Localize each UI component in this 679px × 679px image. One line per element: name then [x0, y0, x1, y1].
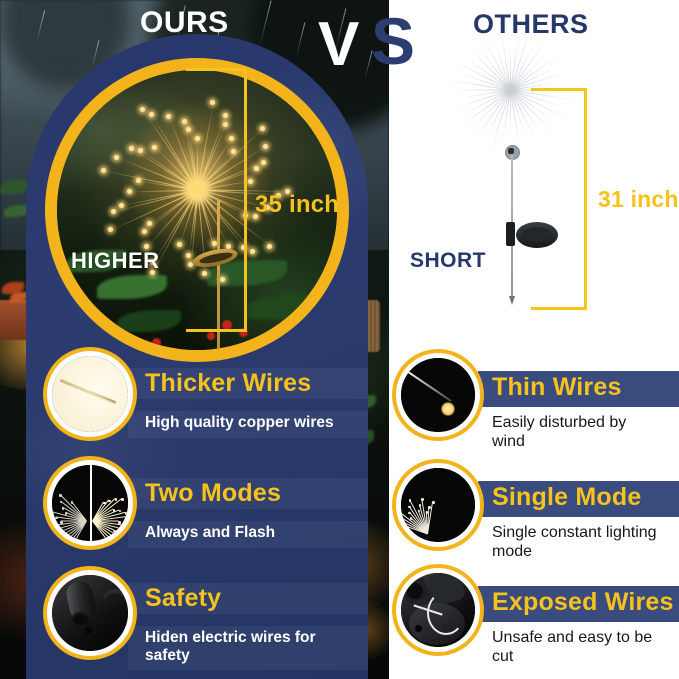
vs-letter-v: V: [318, 14, 359, 76]
vs-letter-s: S: [371, 8, 415, 74]
others-lamp-hub-center: [508, 148, 514, 154]
higher-badge: HIGHER: [71, 248, 160, 274]
ours-feature-subtitle: Hiden electric wires for safety: [145, 629, 360, 665]
ours-dimension-tick-bottom: [186, 329, 247, 332]
others-solar-panel-inner: [522, 227, 552, 242]
others-dimension-label: 31 inch: [598, 186, 679, 213]
others-feature-title: Thin Wires: [492, 373, 622, 402]
comparison-infographic: 35 inch HIGHER 31 inch SHORT OURS OTHERS…: [0, 0, 679, 679]
ours-feature-subtitle: High quality copper wires: [145, 414, 370, 432]
others-lamp-clip: [506, 222, 515, 246]
berry: [207, 332, 215, 340]
ours-title: OURS: [140, 6, 229, 40]
others-dimension-tick-bottom: [531, 307, 587, 310]
others-title: OTHERS: [473, 9, 589, 40]
ours-feature-icon-safety: [43, 566, 137, 660]
others-feature-subtitle: Easily disturbed by wind: [492, 414, 660, 452]
berry: [152, 338, 161, 347]
ours-feature-subtitle: Always and Flash: [145, 524, 370, 542]
others-feature-icon-exposed-wires: [392, 564, 484, 656]
others-feature-icon-single-mode: [392, 459, 484, 551]
others-dimension-tick-top: [531, 88, 587, 91]
ours-feature-title: Two Modes: [145, 479, 281, 508]
ours-dimension-tick-top: [186, 68, 247, 71]
ours-feature-title: Safety: [145, 584, 221, 613]
ours-feature-title: Thicker Wires: [145, 369, 311, 398]
light-pole: [217, 200, 220, 350]
others-feature-subtitle: Single constant lighting mode: [492, 524, 667, 562]
others-dimension-line: [584, 88, 587, 310]
others-feature-title: Single Mode: [492, 483, 641, 512]
ours-dimension-line: [244, 68, 247, 332]
ours-feature-icon-thicker-wires: [43, 347, 137, 441]
ours-feature-icon-two-modes: [43, 456, 137, 550]
others-feature-icon-thin-wires: [392, 349, 484, 441]
short-badge: SHORT: [410, 249, 486, 273]
ours-dimension-label: 35 inch: [255, 191, 339, 219]
others-feature-subtitle: Unsafe and easy to be cut: [492, 629, 667, 667]
others-feature-title: Exposed Wires: [492, 588, 674, 617]
